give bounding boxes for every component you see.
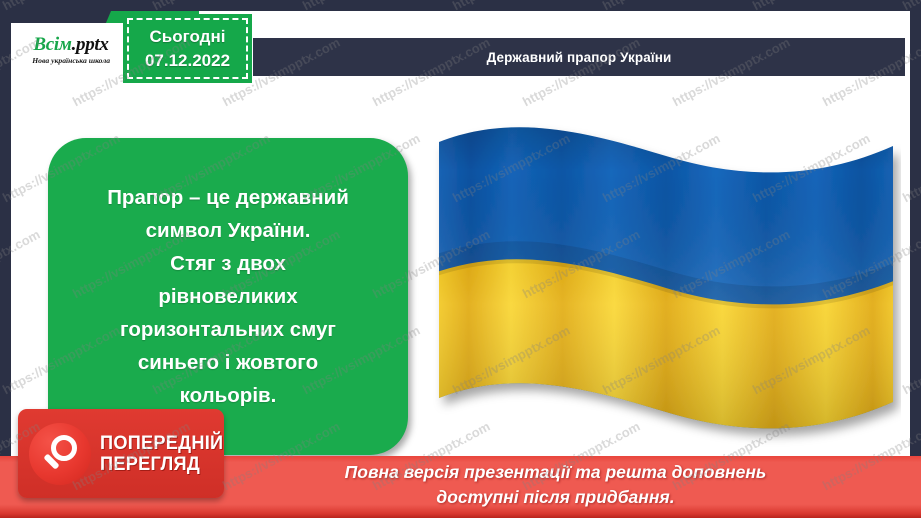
presentation-slide: Всім.pptx Нова українська школа Сьогодні… [0, 0, 921, 518]
content-card-text: Прапор – це державний символ України. Ст… [91, 181, 365, 412]
preview-badge-label: ПОПЕРЕДНІЙПЕРЕГЛЯД [100, 433, 223, 475]
preview-badge-line2: ПЕРЕГЛЯД [100, 453, 200, 475]
slide-title-bar: Державний прапор України [253, 38, 905, 76]
logo-wordmark: Всім.pptx [33, 35, 108, 55]
preview-badge[interactable]: ПОПЕРЕДНІЙПЕРЕГЛЯД [18, 409, 224, 498]
site-logo[interactable]: Всім.pptx Нова українська школа [11, 23, 131, 76]
today-date-badge: Сьогодні 07.12.2022 [123, 14, 252, 83]
logo-subtitle: Нова українська школа [32, 56, 110, 65]
logo-wordmark-dark: .pptx [72, 34, 109, 55]
logo-wordmark-green: Всім [33, 34, 71, 55]
purchase-notice-text: Повна версія презентації та решта доповн… [155, 460, 767, 514]
content-card: Прапор – це державний символ України. Ст… [48, 138, 408, 455]
magnifier-glyph [38, 432, 82, 476]
ukraine-flag-image [431, 106, 901, 466]
date-badge-label: Сьогодні [150, 25, 226, 49]
slide-title: Державний прапор України [487, 50, 672, 65]
date-badge-value: 07.12.2022 [145, 49, 230, 73]
flag-svg [431, 106, 901, 466]
preview-badge-line1: ПОПЕРЕДНІЙ [100, 432, 223, 454]
magnifier-icon [29, 423, 91, 485]
